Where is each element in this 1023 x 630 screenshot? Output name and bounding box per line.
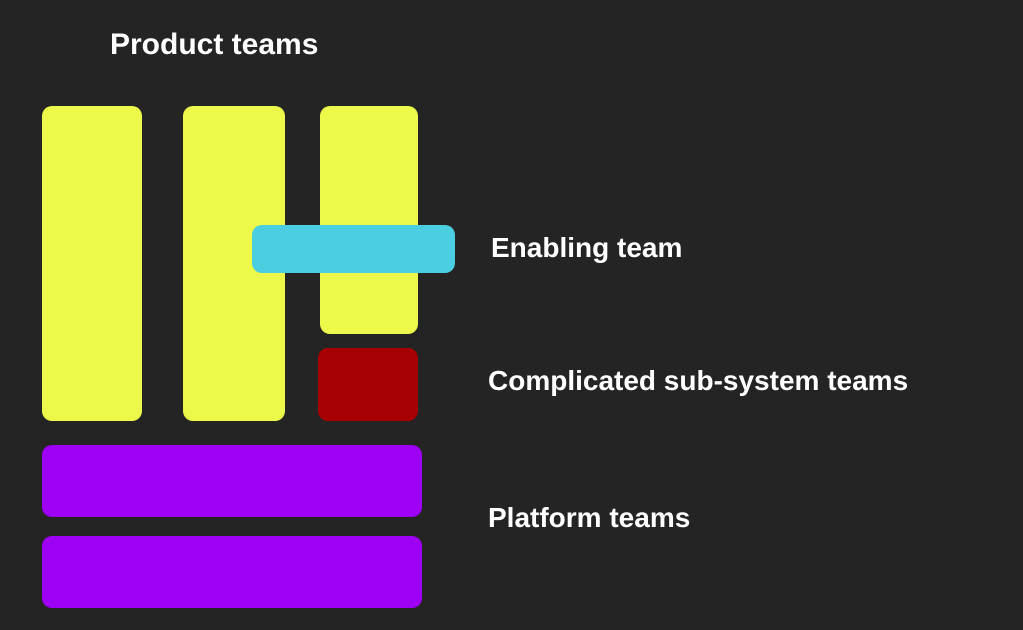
label-enabling-team: Enabling team bbox=[491, 234, 682, 262]
label-platform-teams: Platform teams bbox=[488, 504, 690, 532]
diagram-canvas: Product teams Enabling team Complicated … bbox=[0, 0, 1023, 630]
complicated-subsystem-team-block[interactable] bbox=[318, 348, 418, 421]
product-team-bar-1[interactable] bbox=[42, 106, 142, 421]
platform-team-bar-1[interactable] bbox=[42, 445, 422, 517]
label-complicated-subsystem-teams: Complicated sub-system teams bbox=[488, 367, 908, 395]
enabling-team-bar[interactable] bbox=[252, 225, 455, 273]
label-product-teams: Product teams bbox=[110, 30, 318, 60]
platform-team-bar-2[interactable] bbox=[42, 536, 422, 608]
product-team-bar-3[interactable] bbox=[320, 106, 418, 334]
